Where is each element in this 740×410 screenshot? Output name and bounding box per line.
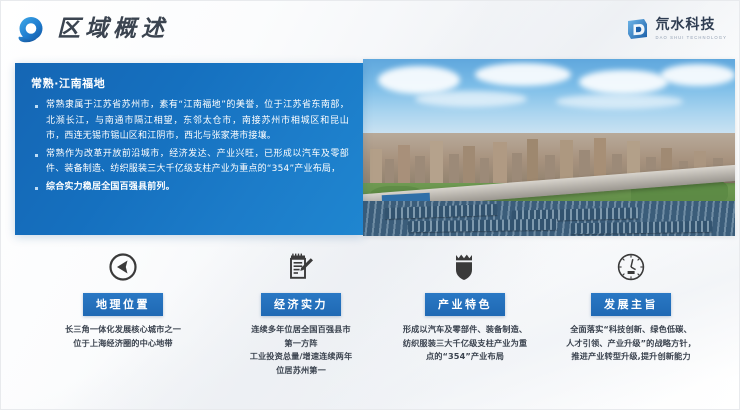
slide-canvas: 区域概述 氘水科技 DAO SHUI TECHNOLOG <box>0 0 740 410</box>
feature-description: 全面落实“科技创新、绿色低碳、 人才引领、产业升级”的战略方针， 推进产业转型升… <box>531 323 731 364</box>
feature-label[interactable]: 经济实力 <box>261 293 341 316</box>
feature-economic-strength: 经济实力 连续多年位居全国百强县市 第一方阵 工业投资总量/增速连续两年 位居苏… <box>211 247 391 377</box>
bullet-text: 常熟作为改革开放前沿城市，经济发达、产业兴旺，已形成以汽车及零部件、装备制造、纺… <box>46 147 349 178</box>
feature-label[interactable]: 地理位置 <box>83 293 163 316</box>
feature-columns: 地理位置 长三角一体化发展核心城市之一 位于上海经济圈的中心地带 <box>1 247 740 395</box>
feature-development-principle: 发展主旨 全面落实“科技创新、绿色低碳、 人才引领、产业升级”的战略方针， 推进… <box>531 247 731 364</box>
dao-shui-d-logo-icon <box>624 16 650 42</box>
ring-logo-icon <box>15 14 49 46</box>
bullet-dot-icon <box>35 187 38 190</box>
info-panel-title: 常熟·江南福地 <box>31 75 349 91</box>
feature-description: 连续多年位居全国百强县市 第一方阵 工业投资总量/增速连续两年 位居苏州第一 <box>211 323 391 377</box>
info-bullet-list: 常熟隶属于江苏省苏州市，素有“江南福地”的美誉，位于江苏省东南部，北濒长江，与南… <box>31 98 349 195</box>
compass-arrow-icon <box>17 247 229 287</box>
list-item: 常熟隶属于江苏省苏州市，素有“江南福地”的美誉，位于江苏省东南部，北濒长江，与南… <box>31 98 349 145</box>
clipboard-pencil-icon <box>211 247 391 287</box>
feature-description: 长三角一体化发展核心城市之一 位于上海经济圈的中心地带 <box>17 323 229 350</box>
bullet-dot-icon <box>35 105 38 108</box>
feature-label[interactable]: 产业特色 <box>425 293 505 316</box>
bullet-text: 综合实力稳居全国百强县前列。 <box>46 180 175 196</box>
region-info-panel: 常熟·江南福地 常熟隶属于江苏省苏州市，素有“江南福地”的美誉，位于江苏省东南部… <box>15 63 363 235</box>
page-title: 区域概述 <box>57 13 169 45</box>
clock-gauge-icon <box>531 247 731 287</box>
bullet-dot-icon <box>35 154 38 157</box>
changshu-aerial-cityscape-photo <box>363 59 735 236</box>
feature-geographic-location: 地理位置 长三角一体化发展核心城市之一 位于上海经济圈的中心地带 <box>17 247 229 350</box>
company-name-cn: 氘水科技 <box>655 18 727 33</box>
list-item: 常熟作为改革开放前沿城市，经济发达、产业兴旺，已形成以汽车及零部件、装备制造、纺… <box>31 147 349 178</box>
list-item: 综合实力稳居全国百强县前列。 <box>31 180 349 196</box>
feature-label[interactable]: 发展主旨 <box>591 293 671 316</box>
company-name-en: DAO SHUI TECHNOLOGY <box>655 34 727 41</box>
bullet-text: 常熟隶属于江苏省苏州市，素有“江南福地”的美誉，位于江苏省东南部，北濒长江，与南… <box>46 98 349 145</box>
slide-header: 区域概述 氘水科技 DAO SHUI TECHNOLOG <box>1 1 740 57</box>
company-logo: 氘水科技 DAO SHUI TECHNOLOGY <box>624 13 727 45</box>
